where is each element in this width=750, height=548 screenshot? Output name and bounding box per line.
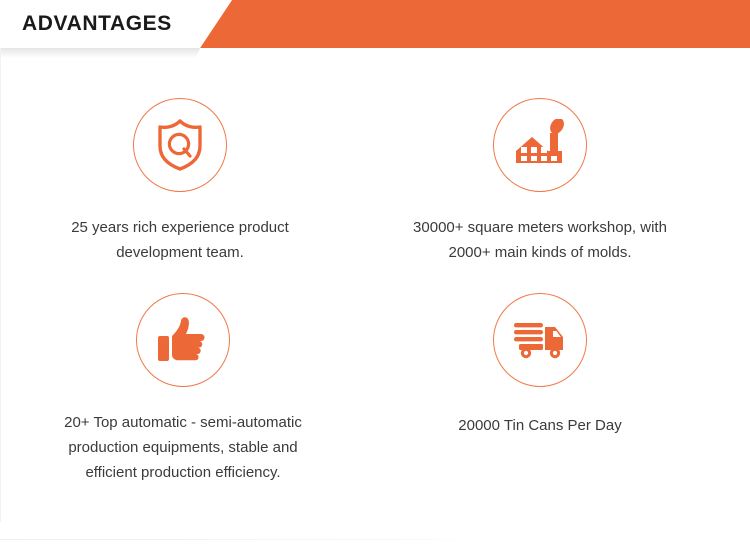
advantage-text: 30000+ square meters workshop, with 2000… bbox=[360, 215, 720, 265]
delivery-truck-icon bbox=[493, 293, 587, 387]
page-title: ADVANTAGES bbox=[22, 0, 172, 48]
advantage-item: 30000+ square meters workshop, with 2000… bbox=[360, 98, 720, 265]
advantage-text: 25 years rich experience product develop… bbox=[0, 215, 360, 265]
shield-quality-icon bbox=[133, 98, 227, 192]
banner-shadow bbox=[0, 48, 240, 58]
advantage-item: 20+ Top automatic - semi-automatic produ… bbox=[3, 293, 363, 485]
advantages-grid: 25 years rich experience product develop… bbox=[0, 58, 750, 538]
page-bottom-edge bbox=[0, 539, 490, 540]
advantages-banner: ADVANTAGES bbox=[0, 0, 750, 48]
advantage-text: 20+ Top automatic - semi-automatic produ… bbox=[3, 410, 363, 485]
advantage-item: 25 years rich experience product develop… bbox=[0, 98, 360, 265]
advantage-text: 20000 Tin Cans Per Day bbox=[360, 413, 720, 438]
advantage-item: 20000 Tin Cans Per Day bbox=[360, 293, 720, 438]
thumbs-up-icon bbox=[136, 293, 230, 387]
factory-icon bbox=[493, 98, 587, 192]
